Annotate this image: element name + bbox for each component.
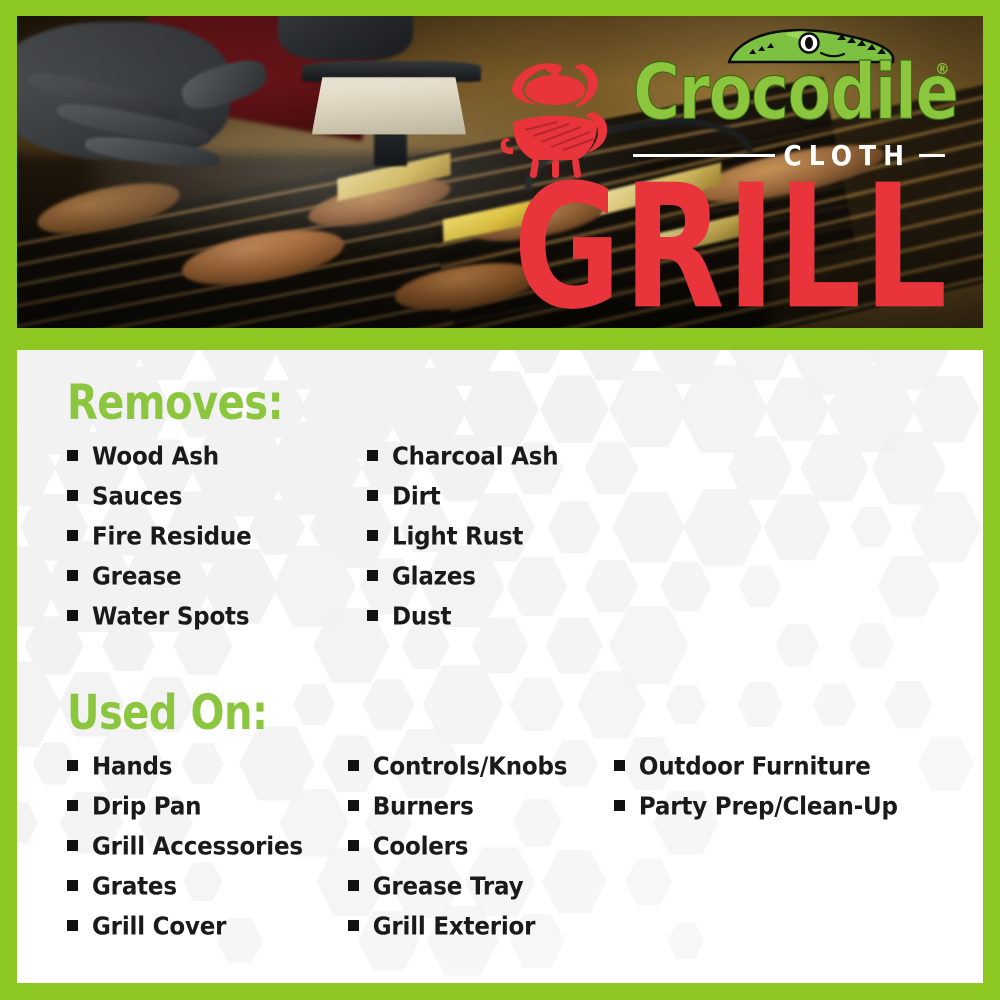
list-item: Light Rust [367, 524, 667, 564]
removes-column-1: Wood Ash Sauces Fire Residue Grease [67, 444, 367, 644]
list-item-label: Grill Exterior [373, 913, 536, 942]
bullet-icon [67, 570, 78, 581]
list-item-label: Sauces [92, 483, 182, 512]
list-item: Water Spots [67, 604, 367, 644]
used-on-column-2: Controls/Knobs Burners Coolers Grease Tr… [348, 754, 614, 954]
list-item-label: Burners [373, 793, 474, 822]
list-item-label: Wood Ash [92, 443, 219, 472]
bullet-icon [67, 920, 78, 931]
bullet-icon [348, 880, 359, 891]
list-item-label: Party Prep/Clean-Up [639, 793, 898, 822]
bullet-icon [348, 800, 359, 811]
list-item-label: Controls/Knobs [373, 753, 568, 782]
list-item-label: Grill Accessories [92, 833, 303, 862]
list-item: Glazes [367, 564, 667, 604]
bullet-icon [367, 490, 378, 501]
bullet-icon [367, 530, 378, 541]
removes-heading: Removes: [67, 376, 943, 431]
used-on-list: Hands Drip Pan Grill Accessories Grates [67, 754, 943, 954]
list-item-label: Fire Residue [92, 523, 251, 552]
bullet-icon [348, 760, 359, 771]
list-item-label: Charcoal Ash [392, 443, 558, 472]
bullet-icon [348, 920, 359, 931]
list-item: Grates [67, 874, 348, 914]
used-on-column-3: Outdoor Furniture Party Prep/Clean-Up [614, 754, 943, 954]
list-item: Charcoal Ash [367, 444, 667, 484]
list-item: Dust [367, 604, 667, 644]
list-item: Dirt [367, 484, 667, 524]
bullet-icon [67, 450, 78, 461]
list-item: Grill Exterior [348, 914, 614, 954]
list-item: Hands [67, 754, 348, 794]
brand-name: Crocodile ® [633, 56, 936, 129]
bullet-icon [67, 490, 78, 501]
bullet-icon [367, 570, 378, 581]
list-item-label: Dust [392, 603, 451, 632]
list-item: Grease [67, 564, 367, 604]
list-item: Coolers [348, 834, 614, 874]
list-item-label: Grates [92, 873, 177, 902]
list-item: Burners [348, 794, 614, 834]
bullet-icon [614, 800, 625, 811]
list-item: Outdoor Furniture [614, 754, 943, 794]
used-on-column-1: Hands Drip Pan Grill Accessories Grates [67, 754, 348, 954]
list-item-label: Light Rust [392, 523, 523, 552]
bullet-icon [67, 840, 78, 851]
bullet-icon [367, 450, 378, 461]
list-item-label: Coolers [373, 833, 469, 862]
list-item-label: Water Spots [92, 603, 249, 632]
bullet-icon [367, 610, 378, 621]
list-item: Grill Accessories [67, 834, 348, 874]
list-item-label: Outdoor Furniture [639, 753, 871, 782]
list-item-label: Hands [92, 753, 172, 782]
list-item-label: Dirt [392, 483, 441, 512]
list-item: Grease Tray [348, 874, 614, 914]
bullet-icon [348, 840, 359, 851]
brand-name-text: Crocodile [633, 48, 958, 137]
bullet-icon [67, 530, 78, 541]
removes-column-2: Charcoal Ash Dirt Light Rust Glazes [367, 444, 667, 644]
hexagon-shape [514, 350, 561, 374]
bullet-icon [67, 800, 78, 811]
list-item-label: Grease [92, 563, 181, 592]
list-item: Sauces [67, 484, 367, 524]
green-divider [17, 328, 983, 350]
bullet-icon [614, 760, 625, 771]
bullet-icon [67, 610, 78, 621]
used-on-heading: Used On: [67, 686, 943, 741]
registered-trademark-icon: ® [935, 62, 948, 76]
bullet-icon [67, 760, 78, 771]
list-item-label: Grill Cover [92, 913, 226, 942]
list-item: Wood Ash [67, 444, 367, 484]
list-item: Drip Pan [67, 794, 348, 834]
list-item-label: Grease Tray [373, 873, 524, 902]
list-item-label: Glazes [392, 563, 476, 592]
hero-banner: Crocodile ® CLOTH GRILL [17, 16, 983, 328]
list-item-label: Drip Pan [92, 793, 201, 822]
list-item: Grill Cover [67, 914, 348, 954]
list-item: Fire Residue [67, 524, 367, 564]
list-item: Controls/Knobs [348, 754, 614, 794]
hero-title: GRILL [513, 163, 949, 328]
bullet-icon [67, 880, 78, 891]
removes-list: Wood Ash Sauces Fire Residue Grease [67, 444, 943, 644]
product-info-poster: Crocodile ® CLOTH GRILL Removes: [0, 0, 1000, 1000]
list-item: Party Prep/Clean-Up [614, 794, 943, 834]
content-panel: Removes: Wood Ash Sauces Fire Residue [17, 350, 983, 983]
